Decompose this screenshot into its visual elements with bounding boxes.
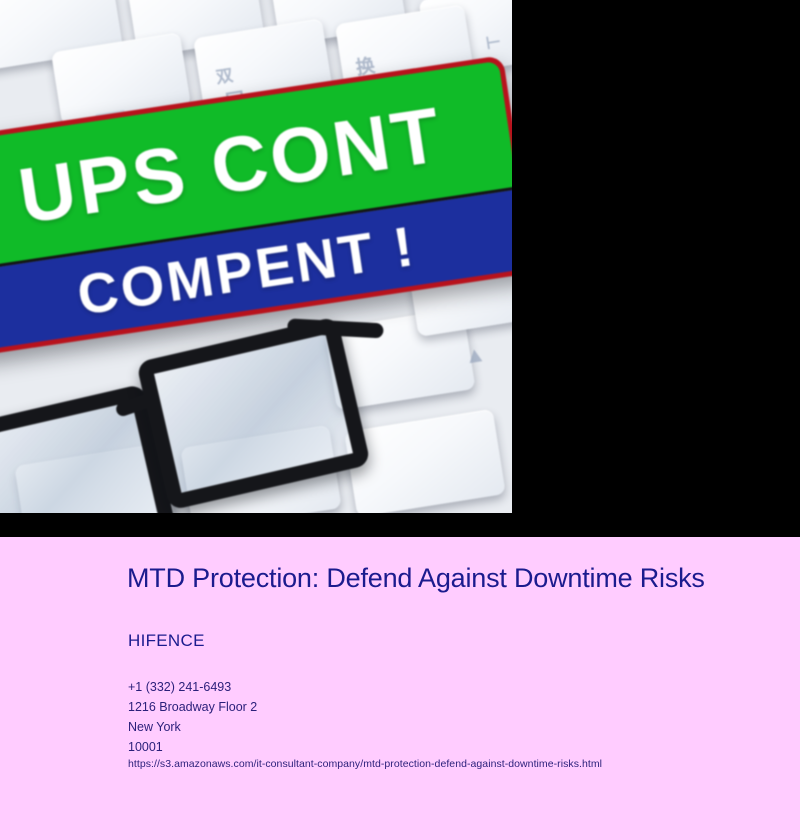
- key-legend-glyph: ▲: [462, 342, 490, 368]
- source-url[interactable]: https://s3.amazonaws.com/it-consultant-c…: [128, 758, 602, 770]
- contact-postal-code: 10001: [128, 737, 748, 757]
- key-legend-glyph: ⊢: [485, 33, 502, 52]
- eyeglasses-bridge: [114, 392, 156, 418]
- media-band: 双 回 换 ⊢ ▲ UPS CONT COMPENT !: [0, 0, 800, 537]
- key-legend-glyph: 双: [215, 67, 234, 86]
- company-name: HIFENCE: [128, 631, 205, 651]
- keyboard-key: [180, 425, 341, 513]
- page-title: MTD Protection: Defend Against Downtime …: [127, 563, 757, 593]
- contact-street: 1216 Broadway Floor 2: [128, 697, 748, 717]
- keyboard-key: [14, 443, 175, 513]
- contact-city: New York: [128, 717, 748, 737]
- keyboard-key: [344, 409, 506, 513]
- contact-block: +1 (332) 241-6493 1216 Broadway Floor 2 …: [128, 677, 748, 757]
- hero-photo: 双 回 换 ⊢ ▲ UPS CONT COMPENT !: [0, 0, 512, 513]
- content-panel: MTD Protection: Defend Against Downtime …: [0, 537, 800, 840]
- contact-phone[interactable]: +1 (332) 241-6493: [128, 677, 748, 697]
